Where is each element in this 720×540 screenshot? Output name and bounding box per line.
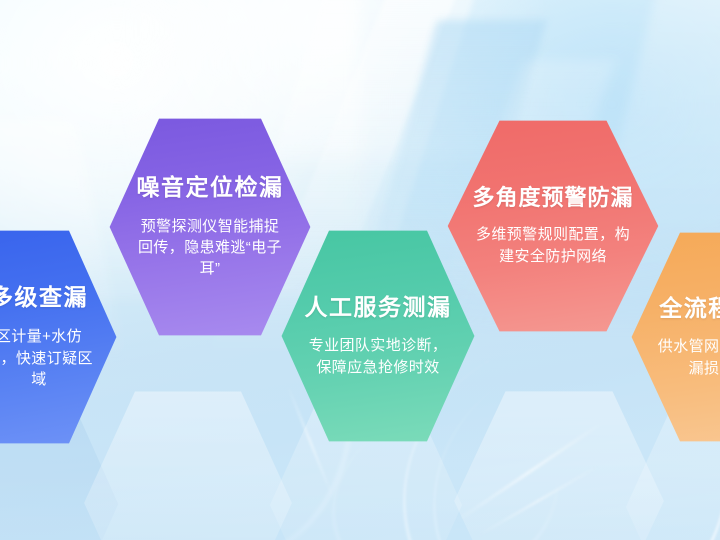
- hexagon-title: 多角度预警防漏: [472, 185, 633, 210]
- hexagon-description: 多维预警规则配置，构建安全防护网络: [473, 224, 633, 267]
- hexagon-description: 预警探测仪智能捕捉回传，隐患难逃“电子耳”: [134, 216, 286, 280]
- hexagon-description: 供水管网理，漏损: [655, 336, 720, 379]
- hexagon-title: 人工服务测漏: [305, 294, 452, 320]
- hexagon-description: 专业团队实地诊断，保障应急抢修时效: [303, 335, 453, 378]
- hexagon-title: 多级查漏: [0, 284, 88, 310]
- hexagon-description: 区计量+水仿真，快速订疑区域: [0, 326, 95, 390]
- hexagon-title: 全流程: [659, 295, 720, 321]
- infographic-canvas: 多级查漏 区计量+水仿真，快速订疑区域 人工服务测漏 专业团队实地诊断，保障应急…: [0, 0, 720, 540]
- hexagon-title: 噪音定位检漏: [137, 174, 284, 200]
